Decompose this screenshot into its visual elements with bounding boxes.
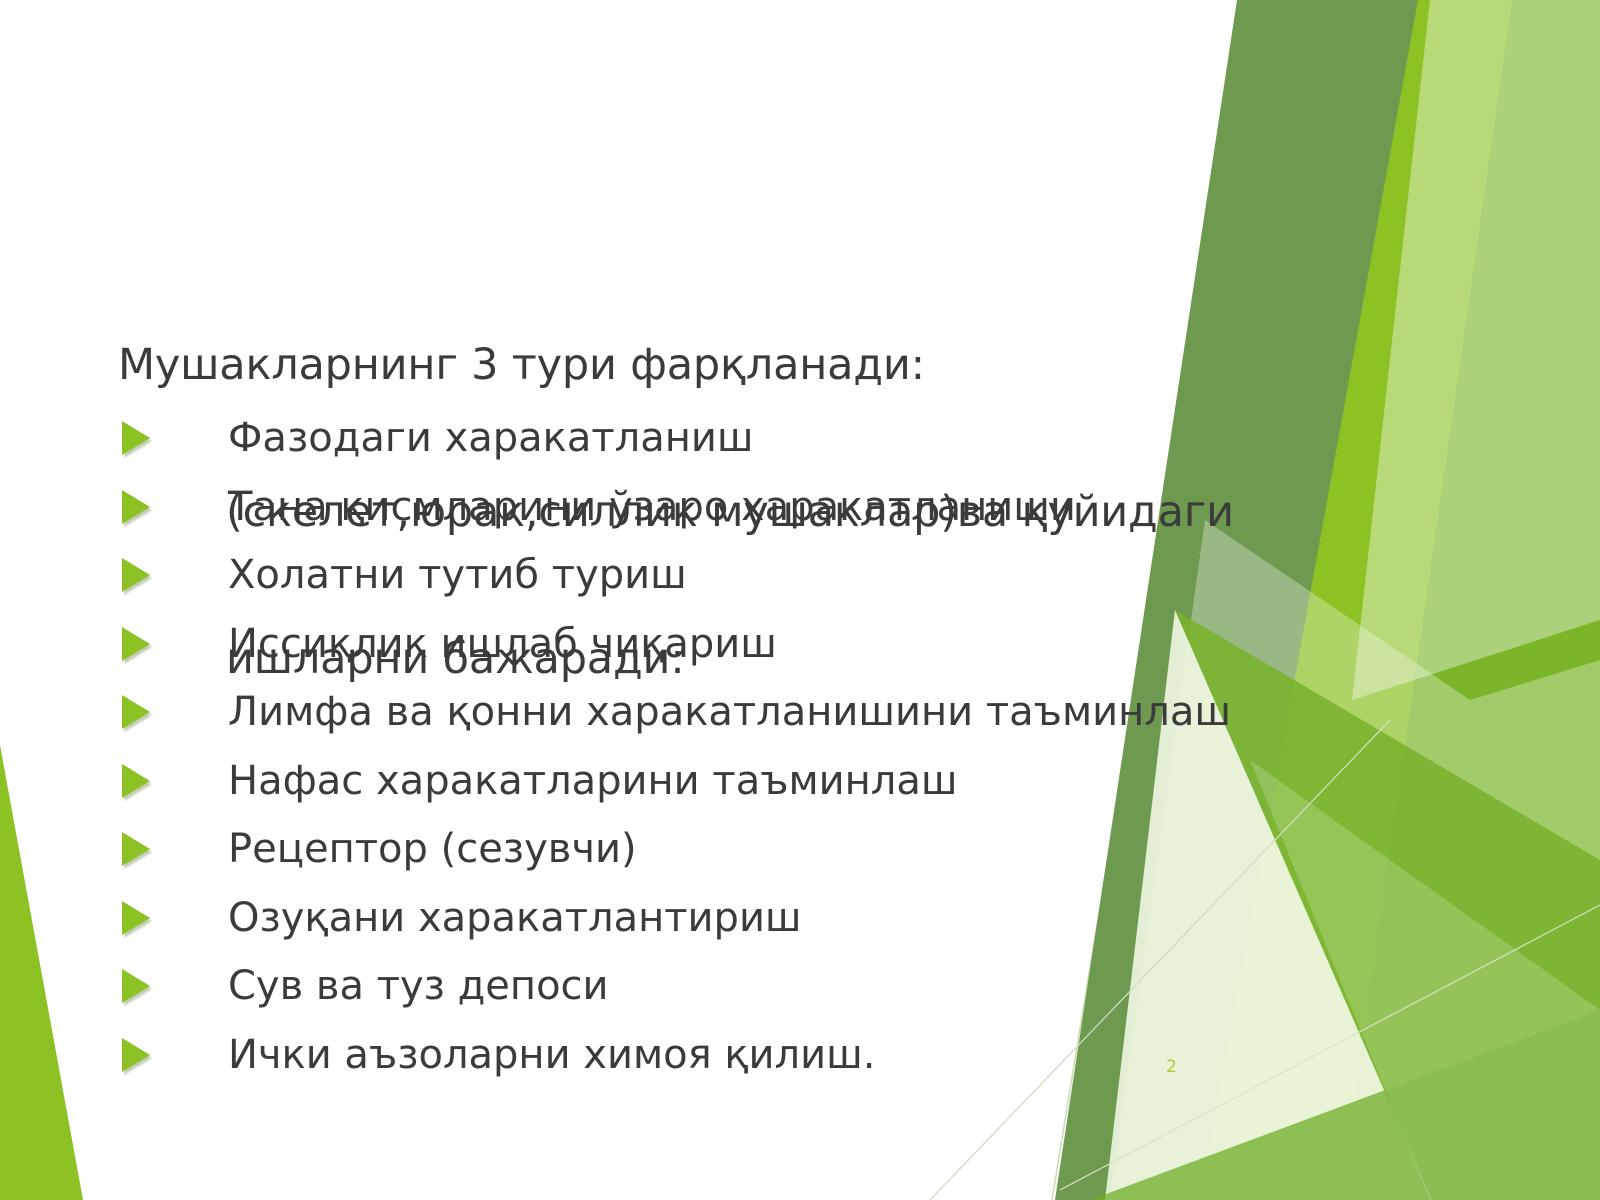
list-item-label: Сув ва туз депоси [228, 965, 609, 1007]
list-item-label: Рецептор (сезувчи) [228, 828, 637, 870]
list-item: Ички аъзоларни химоя қилиш. [0, 1021, 1600, 1090]
list-item: Лимфа ва қонни харакатланишини таъминлаш [0, 678, 1600, 747]
list-item: Иссиқлик ишлаб чиқариш [0, 610, 1600, 679]
list-item-label: Нафас харакатларини таъминлаш [228, 760, 957, 802]
list-item-label: Тана қисмларини ўзаро харакатланиши [228, 486, 1076, 528]
list-item-label: Холатни тутиб туриш [228, 554, 687, 596]
triangle-bullet-icon [122, 1038, 150, 1072]
triangle-bullet-icon [122, 901, 150, 935]
triangle-bullet-icon [122, 695, 150, 729]
title-line-1: Мушакларнинг 3 тури фарқланади: [118, 341, 1378, 390]
list-item-label: Лимфа ва қонни харакатланишини таъминлаш [228, 691, 1231, 733]
triangle-bullet-icon [122, 558, 150, 592]
list-item: Холатни тутиб туриш [0, 541, 1600, 610]
list-item: Сув ва туз депоси [0, 952, 1600, 1021]
list-item: Нафас харакатларини таъминлаш [0, 747, 1600, 816]
list-item: Рецептор (сезувчи) [0, 815, 1600, 884]
list-item-label: Озуқани харакатлантириш [228, 897, 802, 939]
triangle-bullet-icon [122, 969, 150, 1003]
triangle-bullet-icon [122, 764, 150, 798]
bullet-list: Фазодаги харакатланиш Тана қисмларини ўз… [0, 404, 1600, 1089]
list-item-label: Ички аъзоларни химоя қилиш. [228, 1034, 875, 1076]
presentation-slide: Мушакларнинг 3 тури фарқланади: (скелет,… [0, 0, 1600, 1200]
slide-content: Мушакларнинг 3 тури фарқланади: (скелет,… [0, 0, 1600, 1200]
triangle-bullet-icon [122, 490, 150, 524]
triangle-bullet-icon [122, 627, 150, 661]
list-item: Фазодаги харакатланиш [0, 404, 1600, 473]
triangle-bullet-icon [122, 832, 150, 866]
list-item-label: Фазодаги харакатланиш [228, 417, 753, 459]
triangle-bullet-icon [122, 421, 150, 455]
slide-number: 2 [1166, 1057, 1177, 1077]
list-item: Озуқани харакатлантириш [0, 884, 1600, 953]
list-item: Тана қисмларини ўзаро харакатланиши [0, 473, 1600, 542]
list-item-label: Иссиқлик ишлаб чиқариш [228, 623, 777, 665]
